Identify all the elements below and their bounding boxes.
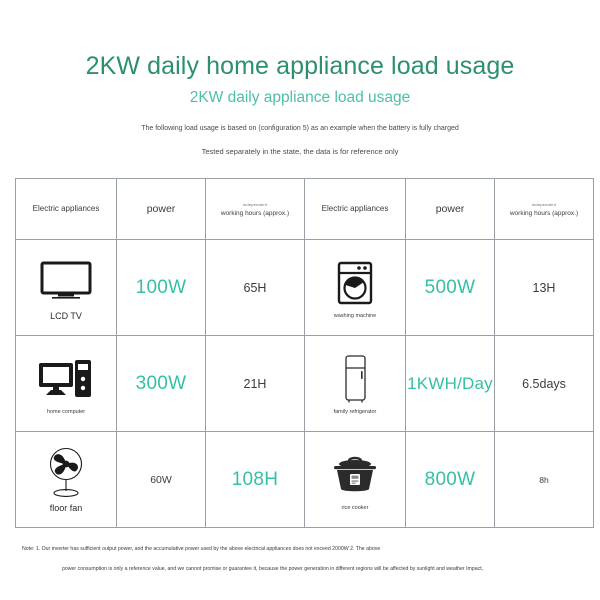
table-header-row: Electric appliances power independent wo… (16, 179, 594, 240)
table-row: home computer 300W 21H (16, 336, 594, 432)
cell-power-home-computer: 300W (117, 336, 206, 432)
header-hours-left-main: working hours (approx.) (206, 210, 304, 217)
cell-power-washing-machine: 500W (406, 240, 495, 336)
cell-hours-lcd-tv: 65H (206, 240, 305, 336)
cell-appliance-floor-fan: floor fan (16, 432, 117, 528)
footer-note-line-1: Note: 1. Our inverter has sufficient out… (22, 546, 380, 552)
appliance-label: LCD TV (50, 311, 82, 321)
appliance-label: home computer (47, 409, 85, 415)
load-usage-table-wrapper: Electric appliances power independent wo… (15, 178, 588, 528)
header-appliance-right: Electric appliances (305, 179, 406, 240)
hours-value: 65H (244, 281, 267, 295)
header-power-left-label: power (117, 203, 205, 215)
description-line-2: Tested separately in the state, the data… (0, 147, 600, 156)
cell-appliance-washing-machine: washing machine (305, 240, 406, 336)
cell-appliance-home-computer: home computer (16, 336, 117, 432)
load-usage-table: Electric appliances power independent wo… (15, 178, 594, 528)
cell-power-lcd-tv: 100W (117, 240, 206, 336)
footer-note-line-2: power consumption is only a reference va… (62, 566, 483, 572)
home-computer-icon (37, 353, 95, 405)
power-value: 500W (425, 277, 476, 299)
rice-cooker-icon (328, 449, 382, 501)
cell-hours-floor-fan: 108H (206, 432, 305, 528)
page-subtitle: 2KW daily appliance load usage (0, 89, 600, 107)
table-row: LCD TV 100W 65H (16, 240, 594, 336)
appliance-label: floor fan (50, 503, 83, 513)
cell-appliance-refrigerator: family refrigerator (305, 336, 406, 432)
header-power-right: power (406, 179, 495, 240)
hours-value: 21H (244, 377, 267, 391)
cell-appliance-lcd-tv: LCD TV (16, 240, 117, 336)
lcd-tv-icon (38, 255, 94, 307)
header-hours-left: independent working hours (approx.) (206, 179, 305, 240)
header-hours-left-sup: independent (206, 202, 304, 207)
appliance-load-usage-page: 2KW daily home appliance load usage 2KW … (0, 0, 600, 600)
header-hours-right-sup: independent (495, 202, 593, 207)
cell-appliance-rice-cooker: rice cooker (305, 432, 406, 528)
washing-machine-icon (335, 257, 375, 309)
page-title: 2KW daily home appliance load usage (0, 52, 600, 81)
header-power-right-label: power (406, 203, 494, 215)
power-value: 60W (150, 474, 172, 486)
power-value: 1KWH/Day (407, 374, 493, 394)
appliance-label: rice cooker (342, 505, 369, 511)
header-hours-right-main: working hours (approx.) (495, 210, 593, 217)
header-hours-right: independent working hours (approx.) (495, 179, 594, 240)
header-appliance-left-label: Electric appliances (16, 201, 116, 216)
hours-value: 6.5days (522, 377, 566, 391)
cell-hours-washing-machine: 13H (495, 240, 594, 336)
header-appliance-right-label: Electric appliances (305, 201, 405, 216)
header-appliance-left: Electric appliances (16, 179, 117, 240)
appliance-label: washing machine (334, 313, 377, 319)
description-line-1: The following load usage is based on (co… (0, 125, 600, 132)
floor-fan-icon (41, 447, 91, 499)
cell-power-floor-fan: 60W (117, 432, 206, 528)
cell-power-refrigerator: 1KWH/Day (406, 336, 495, 432)
appliance-label: family refrigerator (334, 409, 377, 415)
hours-value: 108H (232, 469, 279, 491)
cell-hours-rice-cooker: 8h (495, 432, 594, 528)
refrigerator-icon (338, 353, 372, 405)
table-row: floor fan 60W 108H (16, 432, 594, 528)
cell-hours-home-computer: 21H (206, 336, 305, 432)
hours-value: 13H (533, 281, 556, 295)
power-value: 300W (136, 373, 187, 395)
hours-value: 8h (539, 475, 548, 485)
header-power-left: power (117, 179, 206, 240)
cell-hours-refrigerator: 6.5days (495, 336, 594, 432)
cell-power-rice-cooker: 800W (406, 432, 495, 528)
power-value: 800W (425, 469, 476, 491)
power-value: 100W (136, 277, 187, 299)
